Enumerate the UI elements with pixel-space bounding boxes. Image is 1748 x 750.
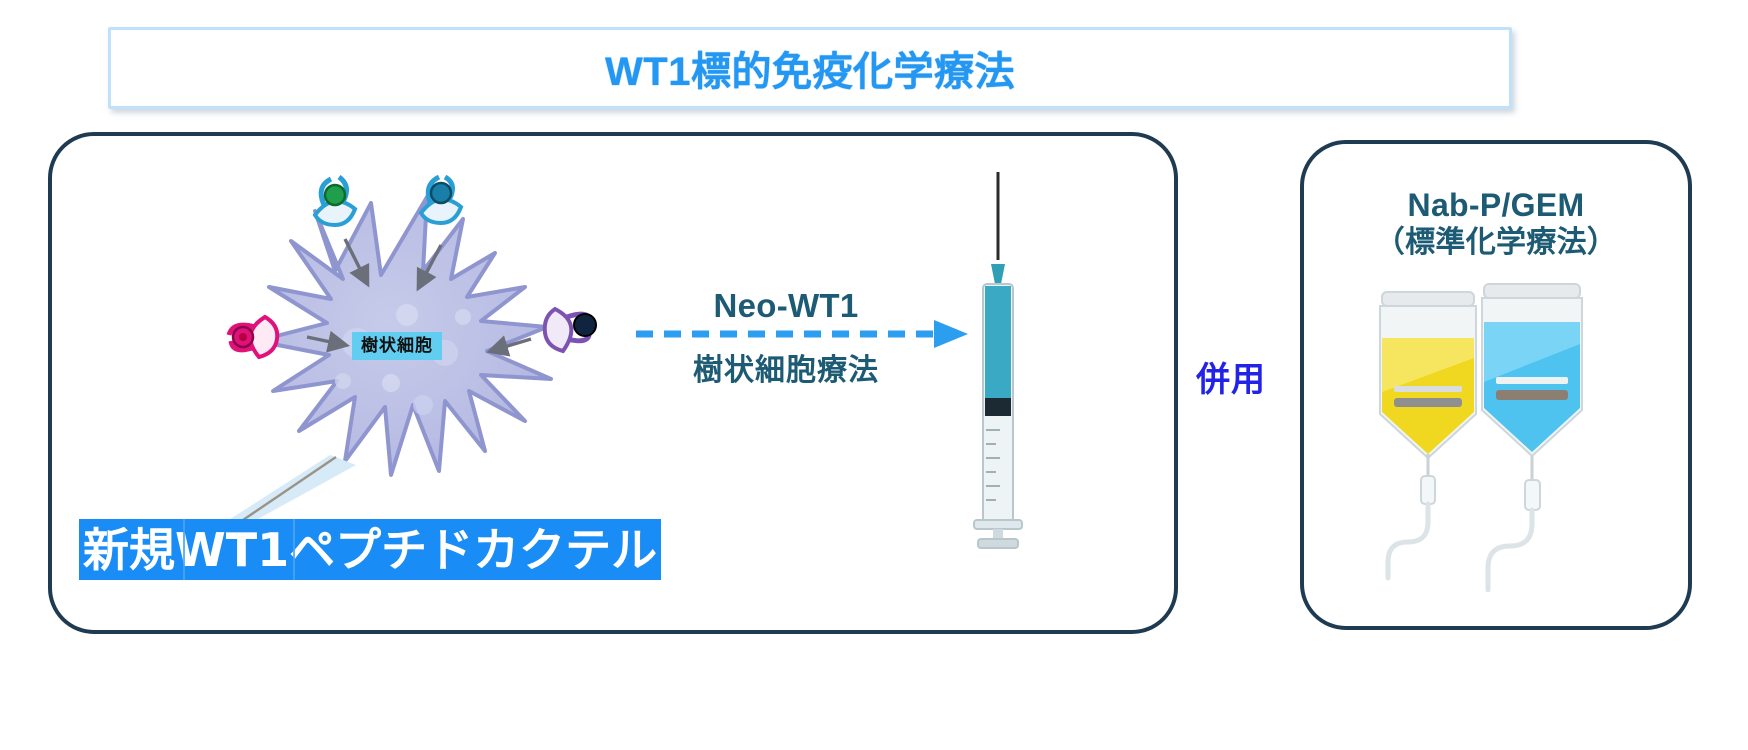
iv-bag-blue [1482,284,1582,590]
title-banner: WT1標的免疫化学療法 [108,27,1512,109]
arrow-label-secondary: 樹状細胞療法 [636,345,936,389]
receptor-magenta-icon [229,317,277,357]
arrow-label-primary: Neo-WT1 [636,287,936,325]
syringe-icon [950,172,1046,550]
iv-drip-bags-icon [1358,282,1638,592]
right-panel-heading: Nab-P/GEM （標準化学療法） [1300,186,1692,262]
highlight-band: 新規WT1ペプチドカクテル [79,519,661,580]
receptor-navy-icon [545,309,596,351]
right-panel-heading-line2: （標準化学療法） [1300,225,1692,262]
receptor-teal-icon [421,177,461,223]
diagram-canvas: WT1標的免疫化学療法 [0,0,1748,750]
cell-label: 樹状細胞 [352,332,442,360]
right-panel-heading-line1: Nab-P/GEM [1300,186,1692,225]
receptor-green-icon [315,177,355,225]
highlight-band-text: 新規WT1ペプチドカクテル [83,527,657,573]
iv-bag-yellow [1380,292,1476,578]
page-title: WT1標的免疫化学療法 [605,39,1015,97]
combination-label: 併用 [1196,352,1266,401]
